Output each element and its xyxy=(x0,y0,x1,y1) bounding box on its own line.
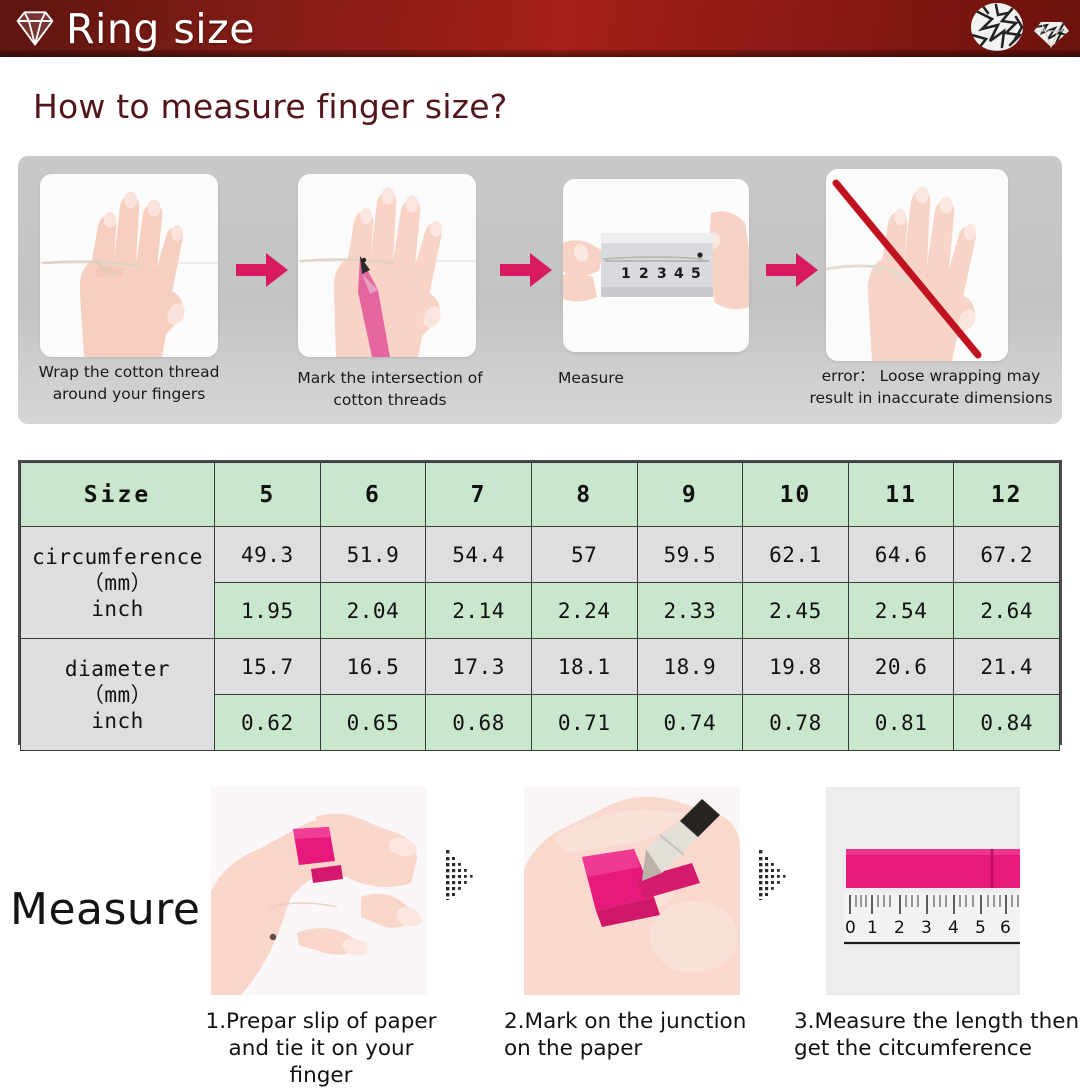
diameter-mm-12: 21.4 xyxy=(954,639,1060,695)
step-caption-error: error： Loose wrapping may result in inac… xyxy=(801,365,1061,409)
diameter-mm-8: 18.1 xyxy=(531,639,637,695)
arrow-right-icon xyxy=(766,250,818,290)
page-title: Ring size xyxy=(66,2,255,56)
ruler-tick-6: 6 xyxy=(1000,918,1011,938)
circumference-mm-6: 51.9 xyxy=(320,527,426,583)
circumference-mm-8: 57 xyxy=(531,527,637,583)
step-photo-wrap-thread xyxy=(40,174,218,357)
ring-size-table: Size 5 6 7 8 9 10 11 12 circumference （m… xyxy=(18,460,1062,745)
circumference-mm-7: 54.4 xyxy=(426,527,532,583)
ruler-tick-3: 3 xyxy=(921,918,932,938)
table-row-circumference-mm: circumference （mm） inch 49.3 51.9 54.4 5… xyxy=(21,527,1060,583)
header-bar: Ring size xyxy=(0,0,1080,57)
measure-heading: Measure xyxy=(10,884,201,935)
diameter-inch-9: 0.74 xyxy=(637,695,743,751)
diameter-mm-6: 16.5 xyxy=(320,639,426,695)
table-header-size-10: 10 xyxy=(743,463,849,527)
diameter-mm-5: 15.7 xyxy=(215,639,321,695)
table-header-size-9: 9 xyxy=(637,463,743,527)
step-photo-mark-intersection xyxy=(298,174,476,357)
diameter-mm-10: 19.8 xyxy=(743,639,849,695)
measure-photo-measure-length: 0 1 2 3 4 5 6 xyxy=(826,787,1020,995)
diameter-mm-11: 20.6 xyxy=(848,639,954,695)
measure-caption-mark-junction: 2.Mark on the junction on the paper xyxy=(504,1008,774,1062)
table-header-size-5: 5 xyxy=(215,463,321,527)
ruler-tick-2: 2 xyxy=(894,918,905,938)
section-heading: How to measure finger size? xyxy=(33,87,507,126)
arrow-right-icon xyxy=(236,250,288,290)
diameter-inch-5: 0.62 xyxy=(215,695,321,751)
ruler-tick: 3 xyxy=(657,266,667,282)
table-header-size-7: 7 xyxy=(426,463,532,527)
circumference-inch-5: 1.95 xyxy=(215,583,321,639)
measure-photo-mark-junction xyxy=(524,787,740,995)
table-header-size-11: 11 xyxy=(848,463,954,527)
arrow-right-icon xyxy=(500,250,552,290)
table-row-diameter-mm: diameter （mm） inch 15.7 16.5 17.3 18.1 1… xyxy=(21,639,1060,695)
circumference-inch-8: 2.24 xyxy=(531,583,637,639)
measure-caption-prepare-paper: 1.Prepar slip of paper and tie it on you… xyxy=(196,1008,446,1089)
row-label-circumference: circumference （mm） inch xyxy=(21,527,215,639)
step-caption-wrap-thread: Wrap the cotton thread around your finge… xyxy=(4,361,254,405)
diameter-inch-8: 0.71 xyxy=(531,695,637,751)
circumference-inch-11: 2.54 xyxy=(848,583,954,639)
ruler-tick-4: 4 xyxy=(948,918,959,938)
diameter-inch-6: 0.65 xyxy=(320,695,426,751)
circumference-inch-12: 2.64 xyxy=(954,583,1060,639)
step-photo-error-loose-wrap xyxy=(826,169,1008,361)
diameter-inch-11: 0.81 xyxy=(848,695,954,751)
ruler-tick-1: 1 xyxy=(867,918,878,938)
circumference-mm-12: 67.2 xyxy=(954,527,1060,583)
table-header-size-12: 12 xyxy=(954,463,1060,527)
gemstone-pair-icon xyxy=(952,1,1072,55)
row-label-diameter: diameter （mm） inch xyxy=(21,639,215,751)
measure-caption-measure-length: 3.Measure the length then get the citcum… xyxy=(794,1008,1080,1062)
circumference-mm-9: 59.5 xyxy=(637,527,743,583)
table-header-size-6: 6 xyxy=(320,463,426,527)
circumference-inch-7: 2.14 xyxy=(426,583,532,639)
measure-steps-panel: 1 2 3 4 5 xyxy=(18,156,1062,424)
diameter-mm-9: 18.9 xyxy=(637,639,743,695)
circumference-inch-9: 2.33 xyxy=(637,583,743,639)
ruler-tick: 5 xyxy=(691,266,701,282)
diameter-inch-7: 0.68 xyxy=(426,695,532,751)
diameter-inch-12: 0.84 xyxy=(954,695,1060,751)
circumference-mm-11: 64.6 xyxy=(848,527,954,583)
table-header-size-label: Size xyxy=(21,463,215,527)
circumference-inch-10: 2.45 xyxy=(743,583,849,639)
ruler-tick: 2 xyxy=(639,266,649,282)
diameter-mm-7: 17.3 xyxy=(426,639,532,695)
dotted-arrow-icon xyxy=(757,848,791,900)
ruler-tick-0: 0 xyxy=(845,918,856,938)
step-photo-measure-ruler: 1 2 3 4 5 xyxy=(563,179,749,352)
step-caption-mark-intersection: Mark the intersection of cotton threads xyxy=(265,367,515,411)
table-header-row: Size 5 6 7 8 9 10 11 12 xyxy=(21,463,1060,527)
dotted-arrow-icon xyxy=(444,848,478,900)
diamond-icon xyxy=(14,8,56,48)
diameter-inch-10: 0.78 xyxy=(743,695,849,751)
circumference-mm-5: 49.3 xyxy=(215,527,321,583)
circumference-inch-6: 2.04 xyxy=(320,583,426,639)
ruler-tick-5: 5 xyxy=(975,918,986,938)
circumference-mm-10: 62.1 xyxy=(743,527,849,583)
measure-photo-prepare-paper xyxy=(211,787,427,995)
table-header-size-8: 8 xyxy=(531,463,637,527)
step-caption-measure: Measure xyxy=(518,367,768,389)
pink-paper-strip xyxy=(846,849,1020,888)
ruler-tick: 1 xyxy=(621,266,631,282)
ruler-tick: 4 xyxy=(674,266,684,282)
